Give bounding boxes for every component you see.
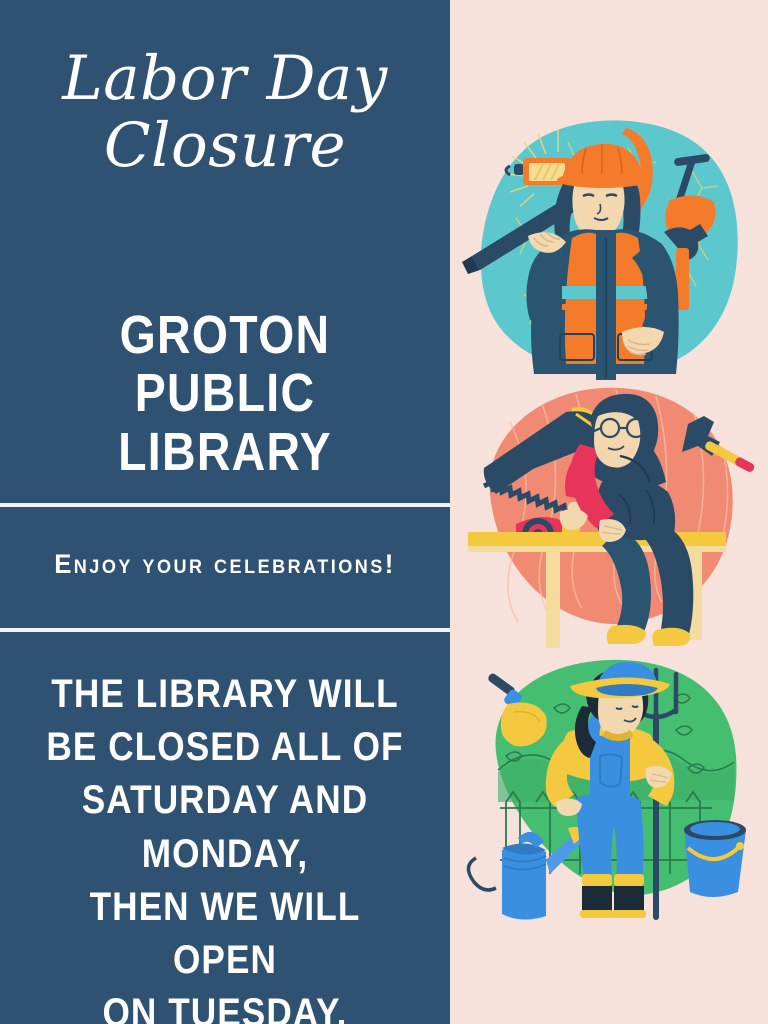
closure-notice: The library will be closed all of Saturd…	[0, 668, 450, 1024]
tagline: Enjoy your celebrations!	[0, 549, 450, 580]
illustration-gardener	[450, 652, 768, 930]
notice-line-2: be closed all of	[39, 721, 410, 774]
notice-line-3: Saturday and Monday,	[39, 774, 410, 880]
notice-line-5: on Tuesday.	[39, 987, 410, 1024]
notice-line-4: then we will open	[39, 881, 410, 987]
bucket-icon	[684, 820, 746, 897]
illustration-construction-worker	[450, 108, 768, 380]
left-text-panel: Labor Day Closure Groton Public Library …	[0, 0, 450, 1024]
headline-line-2: Library	[44, 423, 407, 481]
library-name-heading: Groton Public Library	[0, 306, 450, 481]
divider-line-top	[0, 503, 450, 507]
notice-line-1: The library will	[39, 668, 410, 721]
watering-can-icon	[468, 827, 586, 920]
tagline-text: Enjoy your celebrations!	[25, 549, 426, 580]
divider-line-bottom	[0, 628, 450, 632]
headline-line-1: Groton Public	[44, 306, 407, 423]
labor-day-closure-poster: Labor Day Closure Groton Public Library …	[0, 0, 768, 1024]
illustration-carpenter	[450, 382, 768, 650]
illustration-column	[450, 0, 768, 1024]
title-line-1: Labor Day	[14, 48, 436, 111]
title-line-2: Closure	[14, 115, 436, 178]
poster-title: Labor Day Closure	[0, 48, 450, 178]
